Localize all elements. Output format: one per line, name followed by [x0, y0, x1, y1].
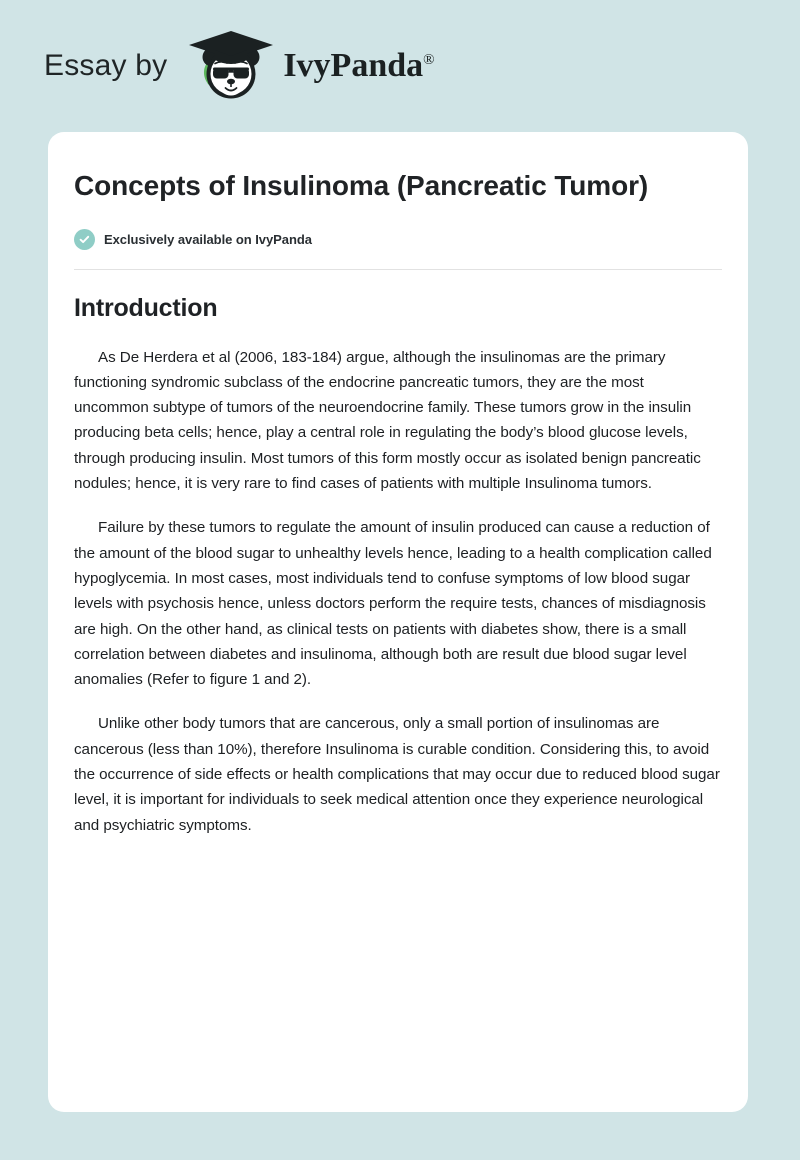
essay-card: Concepts of Insulinoma (Pancreatic Tumor…	[48, 132, 748, 1112]
page-header: Essay by	[0, 0, 800, 132]
paragraph: As De Herdera et al (2006, 183-184) argu…	[74, 345, 722, 497]
registered-trademark-mark: ®	[423, 52, 434, 68]
ivypanda-brand-logo[interactable]: IvyPanda®	[185, 29, 434, 103]
page-title: Concepts of Insulinoma (Pancreatic Tumor…	[74, 166, 722, 207]
brand-wordmark: IvyPanda®	[283, 49, 434, 83]
paragraph: Unlike other body tumors that are cancer…	[74, 711, 722, 837]
essay-by-label: Essay by	[44, 51, 167, 81]
exclusivity-badge: Exclusively available on IvyPanda	[74, 229, 722, 250]
exclusivity-badge-label: Exclusively available on IvyPanda	[104, 232, 312, 247]
panda-graduate-logo-icon	[185, 29, 281, 103]
check-circle-icon	[74, 229, 95, 250]
paragraph: Failure by these tumors to regulate the …	[74, 515, 722, 692]
title-divider	[74, 269, 722, 270]
brand-name-text: IvyPanda	[283, 47, 423, 84]
section-heading-introduction: Introduction	[74, 294, 722, 323]
